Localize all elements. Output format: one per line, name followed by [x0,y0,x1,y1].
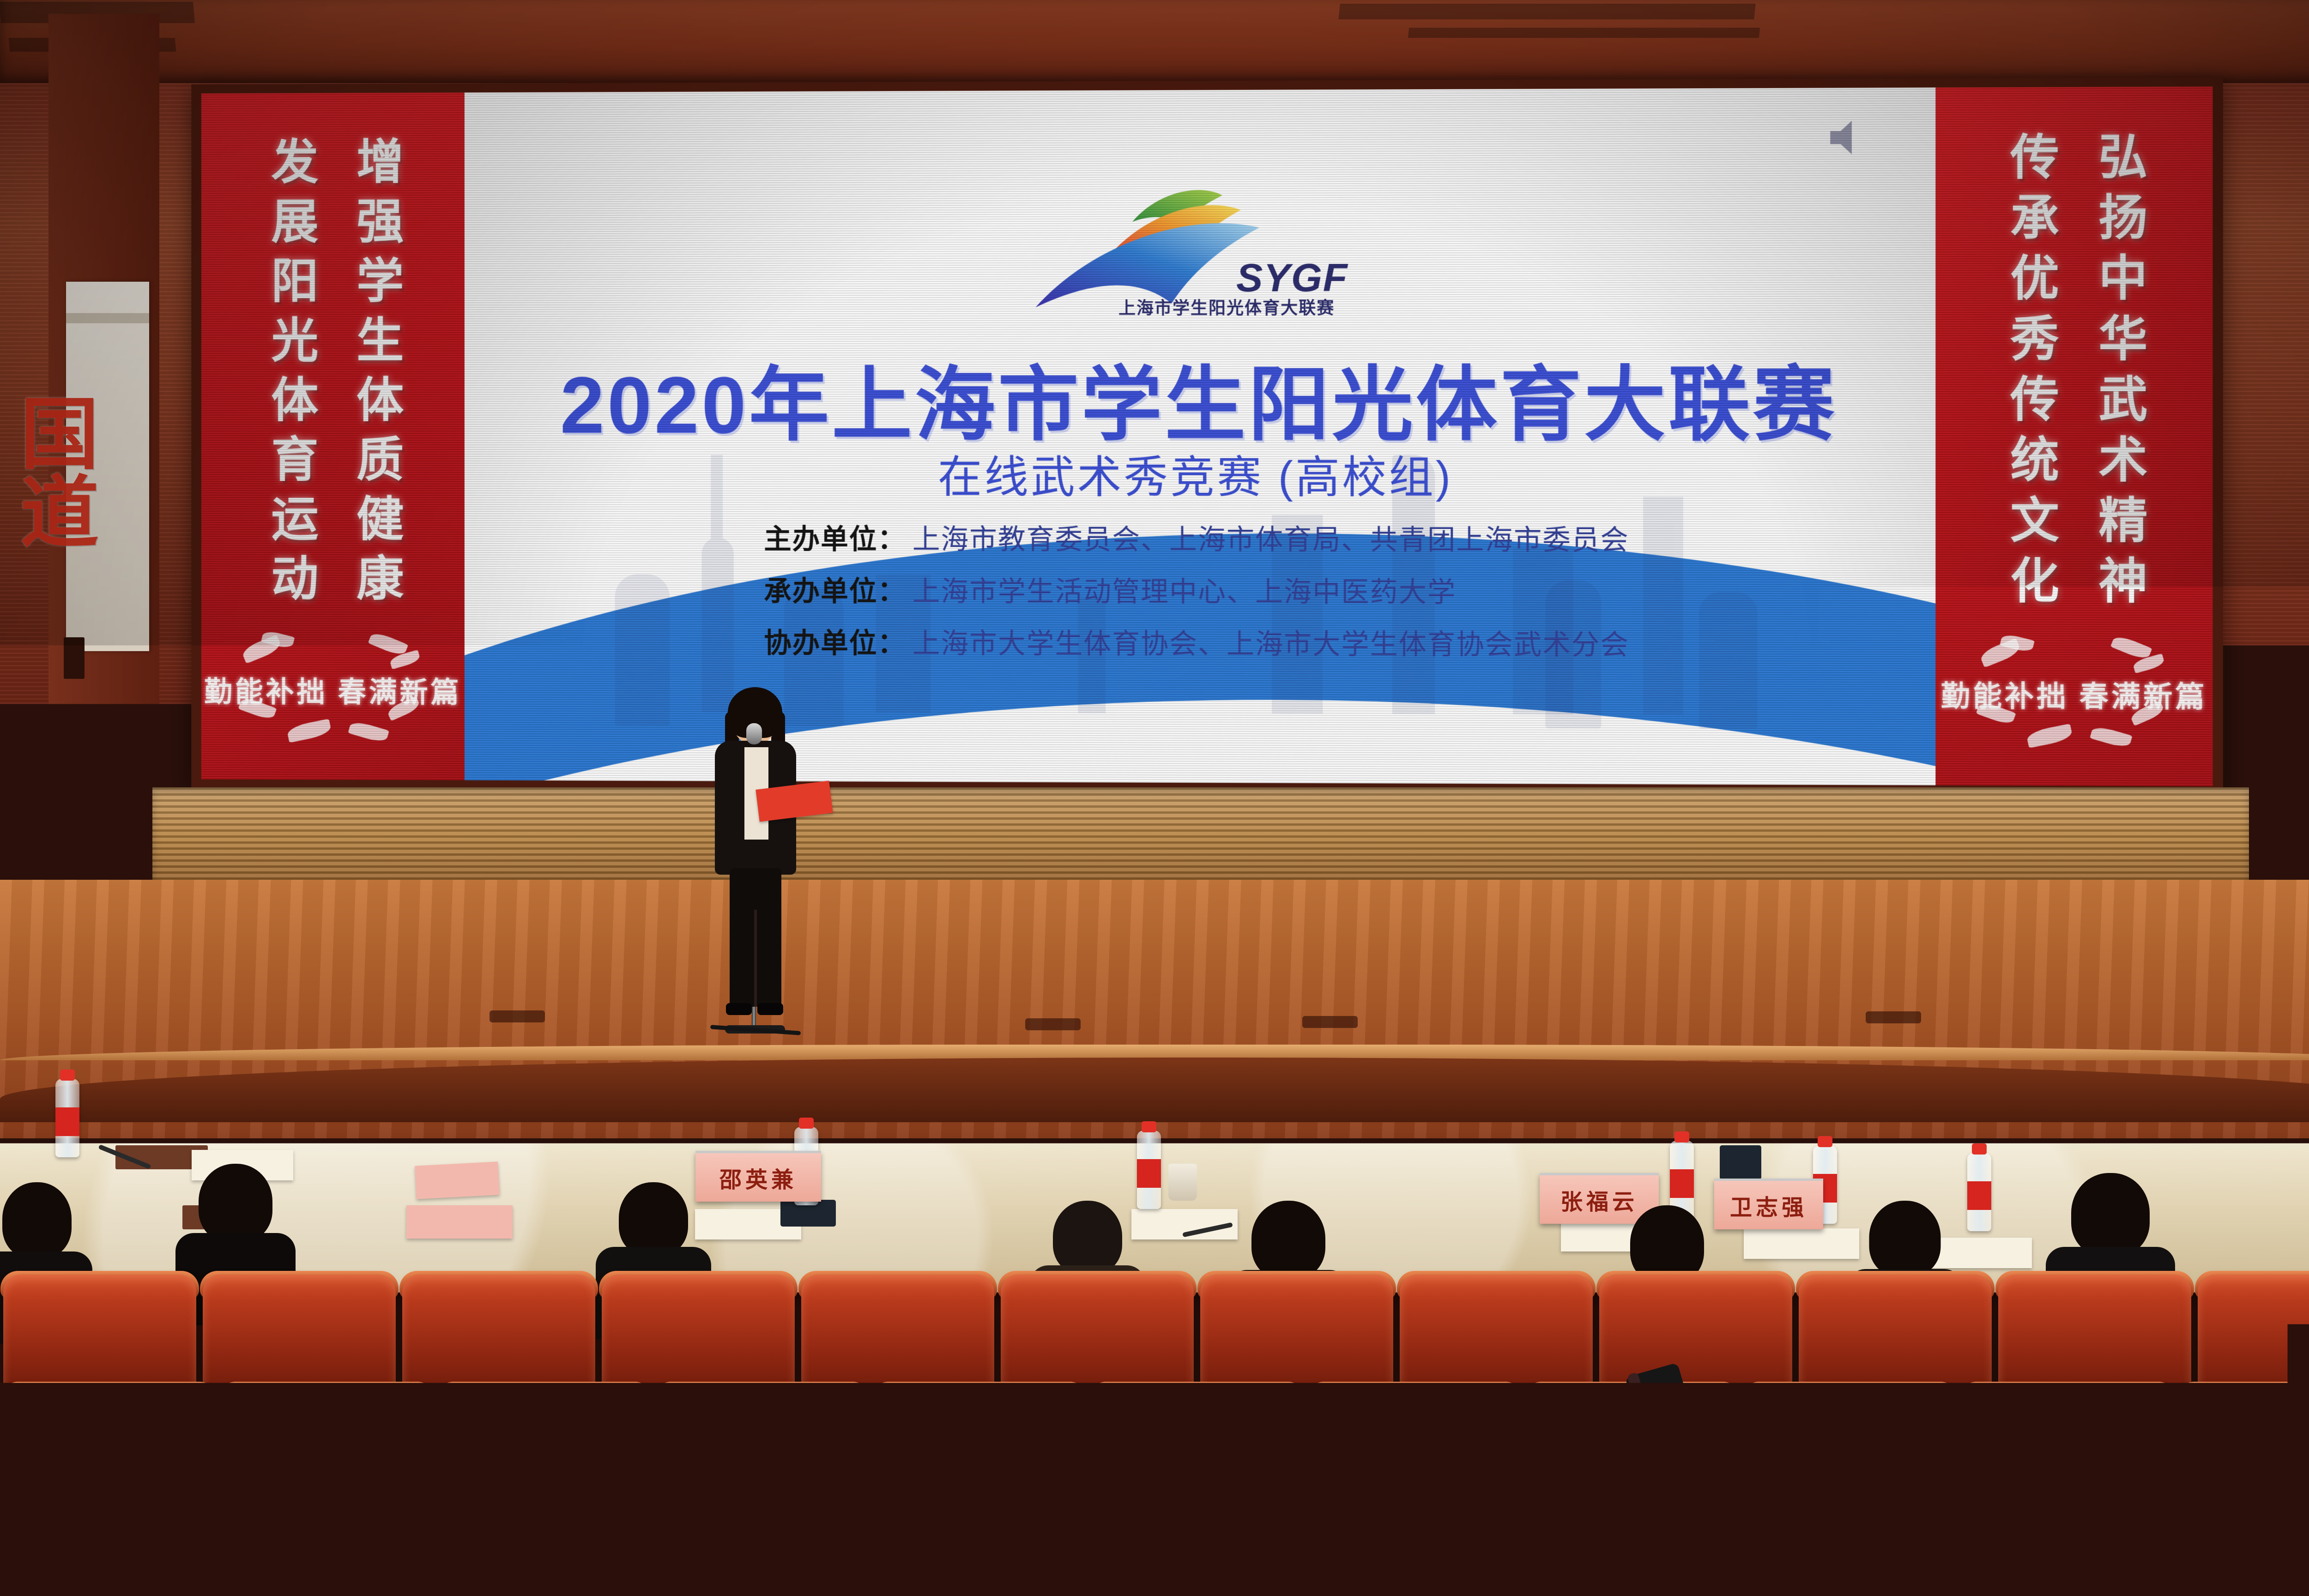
seal-calligraphy: 勤能补拙 春满新篇 [1941,683,2207,712]
nameplate-text: 卫志强 [1730,1189,1807,1221]
left-banner-columns: 发展阳光体育运动 增强学生体质健康 [201,136,465,613]
sygf-logo: SYGF 上海市学生阳光体育大联赛 [1020,177,1371,316]
organizer-list: 主办单位： 上海市教育委员会、上海市体育局、共青团上海市委员会 承办单位： 上海… [764,517,1629,675]
auditorium-photo: 国道 [0,0,2309,1596]
stage-floor-socket [1302,1016,1358,1028]
left-banner-seal-ornament: 勤能补拙 春满新篇 [233,633,433,753]
wall-calligraphy: 国道 [0,393,97,660]
banner-column-text: 发展阳光体育运动 [266,137,314,613]
microphone-head [746,723,762,744]
under-armour-logo-icon: ∪ [1019,1222,1047,1246]
organizer-label: 主办单位： [764,517,906,557]
organizer-value: 上海市大学生体育协会、上海市大学生体育协会武术分会 [913,621,1629,663]
right-red-banner: 传承优秀传统文化 弘扬中华武术精神 勤能补拙 春满新篇 [1935,86,2212,786]
seal-calligraphy: 勤能补拙 春满新篇 [204,678,461,707]
stage-floor-socket [490,1010,545,1022]
water-bottle [55,1079,79,1157]
organizer-value: 上海市教育委员会、上海市体育局、共青团上海市委员会 [913,517,1629,558]
ceiling-beam [1338,4,1756,19]
tablet-device [1720,1145,1761,1179]
tripod-leg [1681,1503,1701,1578]
paper-document [1744,1228,1859,1259]
slide-subtitle: 在线武术秀竞赛 (高校组) [465,441,1935,506]
ceiling-beam [1408,28,1760,38]
ceiling [0,0,2309,83]
water-bottle [1137,1130,1161,1209]
led-screen: SYGF 上海市学生阳光体育大联赛 2020年上海市学生阳光体育大联赛 在线武术… [201,86,2213,786]
auditorium-seat[interactable] [242,1492,475,1596]
nameplate-text: 邵英兼 [719,1161,797,1194]
banner-column-text: 传承优秀传统文化 [2006,131,2055,616]
camera-lcd-screen [1646,1426,1678,1446]
logo-chinese-name: 上海市学生阳光体育大联赛 [1118,294,1335,320]
auditorium-seat[interactable] [721,1492,954,1596]
presenter-shoe [726,1003,752,1015]
pink-scoring-sheet [406,1205,513,1239]
tripod-leg [1644,1503,1664,1578]
pink-scoring-sheet [415,1161,500,1199]
presenter-leg-split [754,910,757,1007]
organizer-label: 承办单位： [764,569,906,609]
banner-column-text: 弘扬中华武术精神 [2094,131,2143,616]
left-red-banner: 发展阳光体育运动 增强学生体质健康 勤能补拙 春满新篇 [201,92,465,780]
right-banner-seal-ornament: 勤能补拙 春满新篇 [1971,636,2177,758]
nameplate: 邵英兼 [695,1151,821,1202]
slide-title: 2020年上海市学生阳光体育大联赛 [465,339,1935,456]
auditorium-seat[interactable] [3,1492,236,1596]
water-bottle [1967,1153,1991,1231]
seat-row[interactable] [0,1492,2309,1596]
led-screen-frame: SYGF 上海市学生阳光体育大联赛 2020年上海市学生阳光体育大联赛 在线武术… [191,77,2223,796]
organizer-label: 协办单位： [764,621,906,661]
presenter-shoe [757,1003,783,1015]
auditorium-seat[interactable] [2158,1492,2309,1596]
auditorium-seat[interactable] [1918,1492,2151,1596]
smartphone[interactable] [884,999,919,1055]
presenter-on-stage [702,693,808,1030]
right-banner-columns: 传承优秀传统文化 弘扬中华武术精神 [1935,131,2212,616]
organizer-row: 承办单位： 上海市学生活动管理中心、上海中医药大学 [764,569,1629,611]
presentation-slide: SYGF 上海市学生阳光体育大联赛 2020年上海市学生阳光体育大联赛 在线武术… [465,88,1935,786]
auditorium-seat[interactable] [482,1492,715,1596]
paper-cup [1168,1164,1197,1201]
nameplate: 卫志强 [1714,1179,1823,1229]
speaker-icon[interactable] [1824,112,1885,163]
auditorium-seat[interactable] [961,1492,1194,1596]
organizer-row: 主办单位： 上海市教育委员会、上海市体育局、共青团上海市委员会 [764,517,1629,558]
standing-attendee: UNDER ARMOUR ∪ [847,988,1078,1450]
banner-column-text: 增强学生体质健康 [352,136,399,613]
door-transom [66,313,149,323]
stage-floor-socket [1866,1011,1921,1023]
organizer-row: 协办单位： 上海市大学生体育协会、上海市大学生体育协会武术分会 [764,621,1629,663]
dslr-camera-on-tripod [1607,1365,1755,1596]
athlete-silhouette [1699,592,1757,729]
athlete-silhouette [615,574,670,725]
tripod-column [1667,1460,1678,1515]
camera-strap [1710,1420,1725,1508]
auditorium-seat[interactable] [1200,1492,1433,1596]
organizer-value: 上海市学生活动管理中心、上海中医药大学 [913,569,1456,610]
